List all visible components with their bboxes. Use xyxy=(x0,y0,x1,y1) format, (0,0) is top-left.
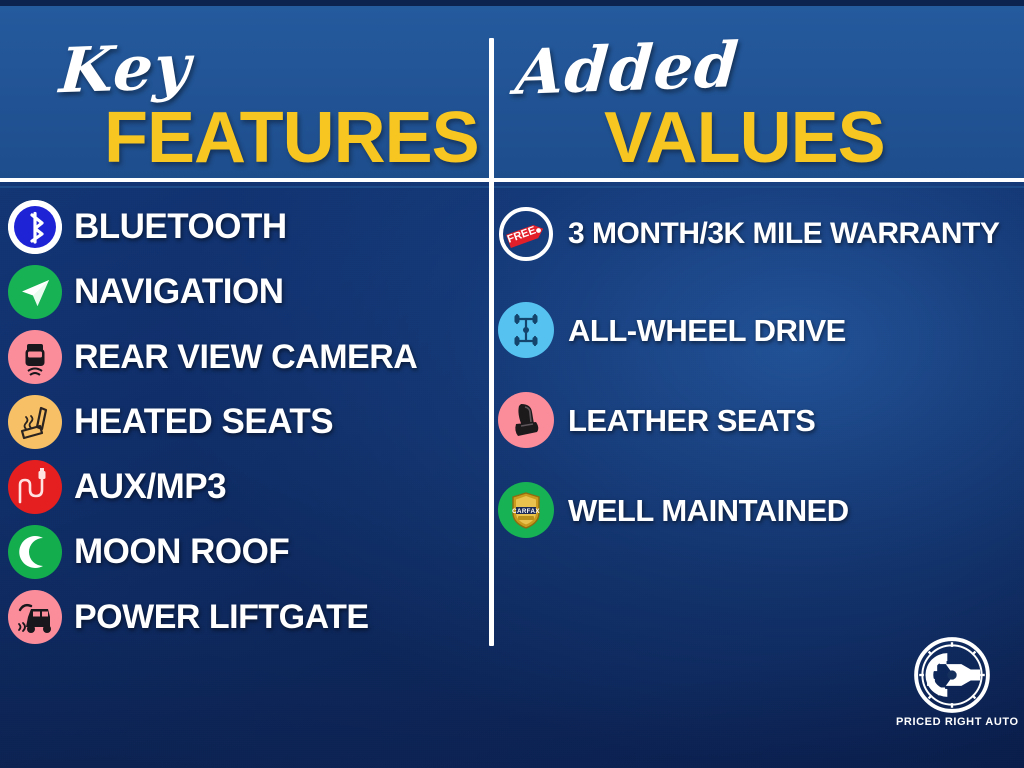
carfax-badge-text: CARFAX xyxy=(512,508,540,515)
value-label: 3 MONTH/3K MILE WARRANTY xyxy=(568,219,999,249)
header-divider-shadow xyxy=(0,186,1024,188)
bluetooth-icon xyxy=(8,200,62,254)
key-features-script-word: Key xyxy=(57,30,194,108)
value-row-all-wheel-drive: ALL-WHEEL DRIVE xyxy=(498,288,1018,372)
key-features-title: FEATURES xyxy=(104,102,479,174)
feature-label: HEATED SEATS xyxy=(74,404,333,439)
navigation-arrow-icon xyxy=(8,265,62,319)
feature-label: POWER LIFTGATE xyxy=(74,600,369,634)
free-tag-badge-icon: FREE xyxy=(498,206,554,262)
feature-label: REAR VIEW CAMERA xyxy=(74,340,417,374)
feature-graphic-canvas: Key FEATURES Added VALUES BLUETOOTH xyxy=(0,0,1024,768)
power-liftgate-icon xyxy=(8,590,62,644)
awd-drivetrain-icon xyxy=(498,302,554,358)
feature-row-navigation: NAVIGATION xyxy=(8,259,478,324)
value-label: ALL-WHEEL DRIVE xyxy=(568,315,846,346)
gear-wrench-emblem-icon xyxy=(913,636,991,714)
header-divider-line xyxy=(0,178,1024,182)
feature-row-rear-view-camera: REAR VIEW CAMERA xyxy=(8,324,478,389)
added-values-header: Added VALUES xyxy=(494,6,1024,178)
feature-row-heated-seats: HEATED SEATS xyxy=(8,389,478,454)
brand-logo: PRICED RIGHT AUTO xyxy=(896,636,1008,740)
feature-row-bluetooth: BLUETOOTH xyxy=(8,194,478,259)
carfax-shield-icon: CARFAX xyxy=(498,482,554,538)
aux-cable-icon xyxy=(8,460,62,514)
value-label: LEATHER SEATS xyxy=(568,405,815,436)
feature-row-moon-roof: MOON ROOF xyxy=(8,519,478,584)
leather-seat-icon xyxy=(498,392,554,448)
value-row-leather-seats: LEATHER SEATS xyxy=(498,378,1018,462)
brand-name-text: PRICED RIGHT AUTO xyxy=(896,716,1008,728)
feature-row-power-liftgate: POWER LIFTGATE xyxy=(8,584,478,649)
added-values-list: FREE 3 MONTH/3K MILE WARRANTY xyxy=(498,192,1018,552)
value-row-well-maintained: CARFAX WELL MAINTAINED xyxy=(498,468,1018,552)
feature-label: NAVIGATION xyxy=(74,274,284,309)
value-row-warranty: FREE 3 MONTH/3K MILE WARRANTY xyxy=(498,192,1018,276)
feature-label: AUX/MP3 xyxy=(74,469,226,504)
value-label: WELL MAINTAINED xyxy=(568,495,849,526)
crescent-moon-icon xyxy=(8,525,62,579)
feature-label: MOON ROOF xyxy=(74,534,289,569)
key-features-list: BLUETOOTH NAVIGATION REAR xyxy=(8,192,478,649)
feature-label: BLUETOOTH xyxy=(74,209,287,244)
added-values-script-word: Added xyxy=(513,28,741,109)
key-features-header: Key FEATURES xyxy=(0,6,489,178)
feature-row-aux-mp3: AUX/MP3 xyxy=(8,454,478,519)
rear-camera-icon xyxy=(8,330,62,384)
added-values-title: VALUES xyxy=(604,102,885,174)
heated-seat-icon xyxy=(8,395,62,449)
